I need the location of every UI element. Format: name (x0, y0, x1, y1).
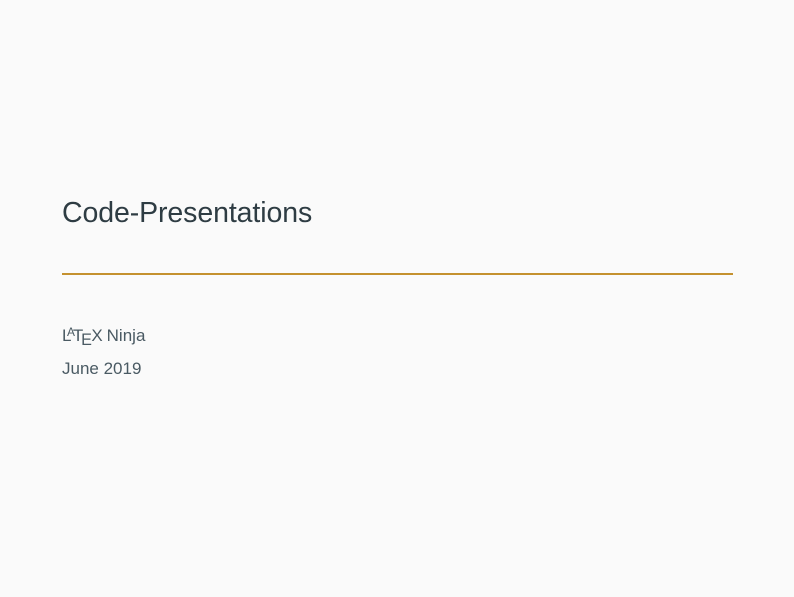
metadata-block: LATEXNinja June 2019 (62, 327, 733, 377)
title-divider (62, 273, 733, 275)
title-slide: Code-Presentations LATEXNinja June 2019 (0, 0, 794, 597)
author-line: LATEXNinja (62, 327, 733, 344)
title-block: Code-Presentations (62, 196, 733, 283)
presentation-date: June 2019 (62, 360, 733, 377)
page-title: Code-Presentations (62, 196, 733, 232)
latex-logo-e: E (81, 332, 92, 348)
latex-logo-a: A (67, 327, 75, 339)
latex-logo-x: X (91, 327, 102, 344)
author-name: Ninja (107, 326, 146, 345)
latex-logo: LATEX (62, 327, 103, 344)
